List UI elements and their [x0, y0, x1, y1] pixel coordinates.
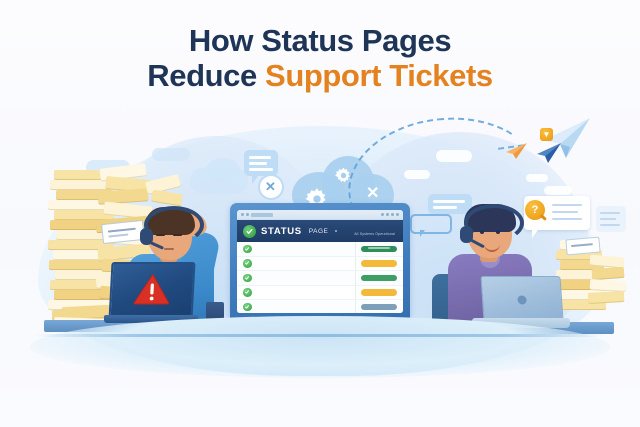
row-divider: [355, 257, 356, 271]
browser-address-bar[interactable]: [251, 213, 273, 217]
browser-controls: [381, 213, 399, 216]
chat-bubble-left-tail: [252, 176, 258, 184]
row-divider: [355, 286, 356, 300]
table-row[interactable]: [237, 271, 403, 286]
browser-control-dot-2: [386, 213, 389, 216]
cloud-shape-left-big-top: [206, 158, 240, 182]
table-row[interactable]: [237, 286, 403, 301]
browser-dot-1: [241, 213, 244, 216]
center-laptop-lid: STATUS PAGE All Systems Operational: [230, 203, 410, 321]
row-divider: [355, 300, 356, 313]
left-agent-mouth: [164, 248, 174, 250]
left-agent-laptop: [104, 262, 196, 324]
soft-cloud-mid: [152, 148, 190, 161]
title-line-2: Reduce Support Tickets: [0, 59, 640, 94]
check-circle-icon: [243, 288, 252, 297]
browser-dot-2: [246, 213, 249, 216]
browser-control-dot-1: [381, 213, 384, 216]
row-divider: [355, 242, 356, 256]
status-page-meta: All Systems Operational: [354, 222, 397, 240]
ground-line: [34, 334, 606, 337]
illustration-canvas: How Status Pages Reduce Support Tickets …: [0, 0, 640, 427]
status-badge: [361, 304, 397, 311]
status-page-header: STATUS PAGE All Systems Operational: [237, 220, 403, 242]
laptop-logo-icon: [517, 295, 527, 304]
check-circle-icon: [243, 303, 252, 312]
chat-bubble-left: [244, 150, 278, 176]
status-badge: [361, 289, 397, 296]
status-page-meta-text: All Systems Operational: [354, 232, 395, 236]
status-badge: [361, 260, 397, 267]
title-line-2-highlight: Support Tickets: [265, 58, 493, 93]
cloud-far-right: [544, 186, 572, 195]
table-row[interactable]: [237, 257, 403, 272]
status-badge: [361, 246, 397, 253]
title-line-2-prefix: Reduce: [147, 58, 265, 93]
banner-title: How Status Pages Reduce Support Tickets: [0, 24, 640, 93]
left-agent-headset-band: [144, 206, 204, 244]
browser-control-dot-3: [391, 213, 394, 216]
x-mark-icon-ring: ✕: [265, 180, 276, 193]
browser-control-dot-4: [396, 213, 399, 216]
ground-shadow: [30, 316, 610, 378]
row-divider: [355, 271, 356, 285]
check-circle-icon: [243, 245, 252, 254]
document-card-right: [596, 206, 626, 232]
status-page-heading-dot: [335, 230, 337, 232]
title-line-1: How Status Pages: [0, 24, 640, 59]
browser-top-bar[interactable]: [237, 210, 403, 220]
left-laptop-screen: [108, 262, 195, 320]
status-page-heading-suffix: PAGE: [309, 228, 329, 235]
flag-badge-icon: ▼: [540, 128, 553, 141]
ticket-sheet-right-label: [565, 237, 600, 256]
table-row[interactable]: [237, 300, 403, 313]
status-badge: [361, 275, 397, 282]
right-laptop-screen: [480, 276, 563, 322]
right-agent-headset-band: [464, 204, 524, 242]
warning-triangle-icon: [133, 273, 171, 310]
center-laptop-screen: STATUS PAGE All Systems Operational: [237, 210, 403, 313]
check-circle-icon: [243, 259, 252, 268]
check-circle-icon-header: [243, 225, 256, 238]
check-circle-icon: [243, 274, 252, 283]
status-page-heading: STATUS: [261, 226, 302, 237]
status-page-rows: [237, 242, 403, 313]
table-row[interactable]: [237, 242, 403, 257]
